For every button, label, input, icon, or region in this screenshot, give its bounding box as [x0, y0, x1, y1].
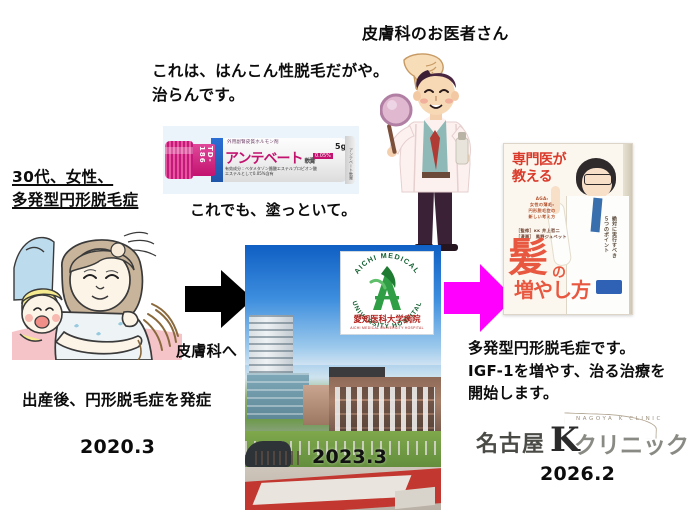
- doctor-label-text: 皮膚科のお医者さん: [362, 24, 509, 44]
- photo-main-building: [329, 377, 441, 439]
- hospital-photo: AICHI MEDICAL UNIVERSITY HOSPITAL 愛知医科大学…: [245, 245, 441, 510]
- svg-text:愛知医科大学病院: 愛知医科大学病院: [354, 314, 422, 324]
- book-subtitle: AGA・ 女性の薄毛・ 円形脱毛症の 新しい考え方: [518, 196, 566, 220]
- svg-text:AICHI MEDICAL UNIVERSITY HOSPI: AICHI MEDICAL UNIVERSITY HOSPITAL: [350, 326, 424, 330]
- date-label-third: 2026.2: [540, 463, 615, 485]
- clinic-name-en: NAGOYA K CLINIC: [576, 416, 663, 422]
- tube-form-label: 軟膏: [304, 158, 314, 165]
- mother-and-baby-illustration: [12, 228, 182, 360]
- photo-people: [255, 451, 301, 465]
- tube-lot-code: TD-186: [194, 146, 214, 174]
- medicine-tube-photo: TD-186 外用副腎皮質ホルモン剤 アンテベート軟膏 0.05% 有効成分：ベ…: [163, 126, 359, 194]
- book-title-rest: 増やし方: [514, 274, 590, 303]
- case-timeline-slide: 30代、女性、 多発型円形脱毛症: [0, 0, 690, 518]
- dermatologist-illustration: [380, 60, 492, 260]
- tube-edge-text: アンテベート軟膏: [348, 148, 354, 180]
- hospital-logo: AICHI MEDICAL UNIVERSITY HOSPITAL 愛知医科大学…: [340, 251, 434, 335]
- book-side-text: 絶対に実行すべき ５つのポイント: [602, 216, 618, 258]
- patient-profile-text: 30代、女性、 多発型円形脱毛症: [12, 166, 138, 213]
- speech-diagnosis-text: これは、はんこん性脱毛だがや。 治らんです。: [152, 60, 389, 107]
- photo-left-block: [247, 373, 309, 419]
- book-doctor-glasses-icon: [584, 174, 612, 185]
- clinic-logo: 名古屋 K NAGOYA K CLINIC クリニック: [476, 414, 662, 464]
- book-title-kanji: 髪: [508, 240, 545, 277]
- book-volume-badge: [596, 280, 622, 294]
- book-title-top: 専門医が 教える: [512, 152, 566, 185]
- tube-cap: [165, 141, 193, 179]
- final-diagnosis-text: 多発型円形脱毛症です。 IGF-1を増やす、治る治療を 開始します。: [468, 337, 666, 405]
- clinic-name-kana: クリニック: [574, 426, 689, 460]
- tube-header-text: 外用副腎皮質ホルモン剤: [227, 139, 279, 145]
- tube-brand-name: アンテベート軟膏: [225, 148, 314, 168]
- tube-strength-label: 0.05%: [313, 153, 333, 159]
- onset-caption-text: 出産後、円形脱毛症を発症: [22, 388, 212, 410]
- tube-right-edge: アンテベート軟膏: [345, 136, 355, 184]
- date-label-second: 2023.3: [312, 446, 387, 468]
- derm-arrow-label-text: 皮膚科へ: [176, 340, 237, 361]
- speech-apply-text: これでも、塗っといて。: [190, 199, 357, 220]
- date-label-first: 2020.3: [80, 436, 155, 458]
- clinic-name-jp: 名古屋: [476, 426, 545, 458]
- book-cover-image: 専門医が 教える AGA・ 女性の薄毛・ 円形脱毛症の 新しい考え方 ［監修］к…: [503, 143, 633, 315]
- derm-referral-arrow-icon: [185, 268, 253, 330]
- tube-ingredient-text: 有効成分：ベタメタゾン酪酸エステルプロピオン酸 エステルとして0.05%含有: [225, 166, 317, 176]
- tube-brand-label: アンテベート: [225, 151, 302, 167]
